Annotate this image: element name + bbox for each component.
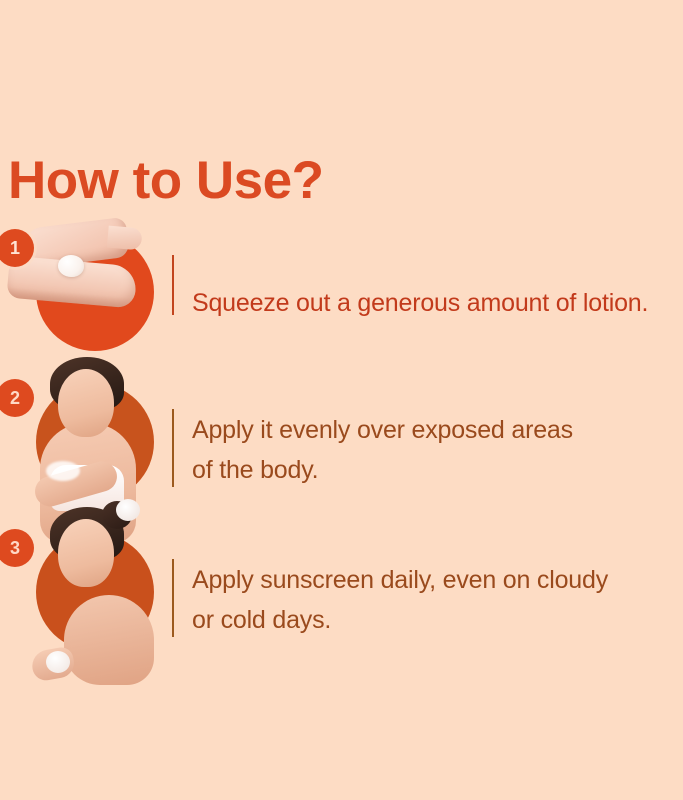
step-image-circle <box>36 233 154 351</box>
woman-applying-lotion-illustration <box>6 349 186 539</box>
step-description-line: Apply sunscreen daily, even on cloudy <box>192 561 683 601</box>
step-image-circle <box>36 533 154 651</box>
step-description-line: Squeeze out a generous amount of lotion. <box>192 284 683 324</box>
cream-dab-shape <box>46 651 70 673</box>
step-number-badge: 1 <box>0 229 34 267</box>
arm-shape <box>31 458 120 510</box>
step-figure: 3 <box>10 525 158 675</box>
head-shape <box>58 519 114 587</box>
step-description-line: of the body. <box>192 451 683 491</box>
page-title: How to Use? <box>8 154 323 207</box>
smiling-woman-sunscreen-illustration <box>6 499 186 689</box>
hands-dispensing-lotion-illustration <box>6 199 186 389</box>
step-number-badge: 3 <box>0 529 34 567</box>
lotion-blob-shape <box>58 255 84 277</box>
upper-hand-shape <box>22 217 130 269</box>
sports-top-shape <box>50 465 124 511</box>
step-number-badge: 2 <box>0 379 34 417</box>
lotion-smear-shape <box>46 461 80 481</box>
step-image-circle <box>36 383 154 501</box>
step-description: Apply it evenly over exposed areas of th… <box>192 411 683 490</box>
step-divider <box>172 255 174 315</box>
how-to-use-infographic: How to Use? 1 Squeeze out a generous amo… <box>0 0 683 800</box>
hand-shape <box>30 646 77 683</box>
step-figure: 1 <box>10 225 158 375</box>
lower-hand-shape <box>6 256 137 309</box>
step-description: Apply sunscreen daily, even on cloudy or… <box>192 561 683 640</box>
step-divider <box>172 559 174 637</box>
step-item: 2 Apply it evenly over exposed areas of … <box>0 375 683 525</box>
step-figure: 2 <box>10 375 158 525</box>
step-description-line: Apply it evenly over exposed areas <box>192 411 683 451</box>
step-item: 1 Squeeze out a generous amount of lotio… <box>0 225 683 375</box>
step-description-line: or cold days. <box>192 601 683 641</box>
head-shape <box>58 369 114 437</box>
steps-list: 1 Squeeze out a generous amount of lotio… <box>0 225 683 675</box>
step-item: 3 Apply sunscreen daily, even on cloudy … <box>0 525 683 675</box>
shoulder-shape <box>64 595 154 685</box>
step-description: Squeeze out a generous amount of lotion. <box>192 284 683 324</box>
step-divider <box>172 409 174 487</box>
